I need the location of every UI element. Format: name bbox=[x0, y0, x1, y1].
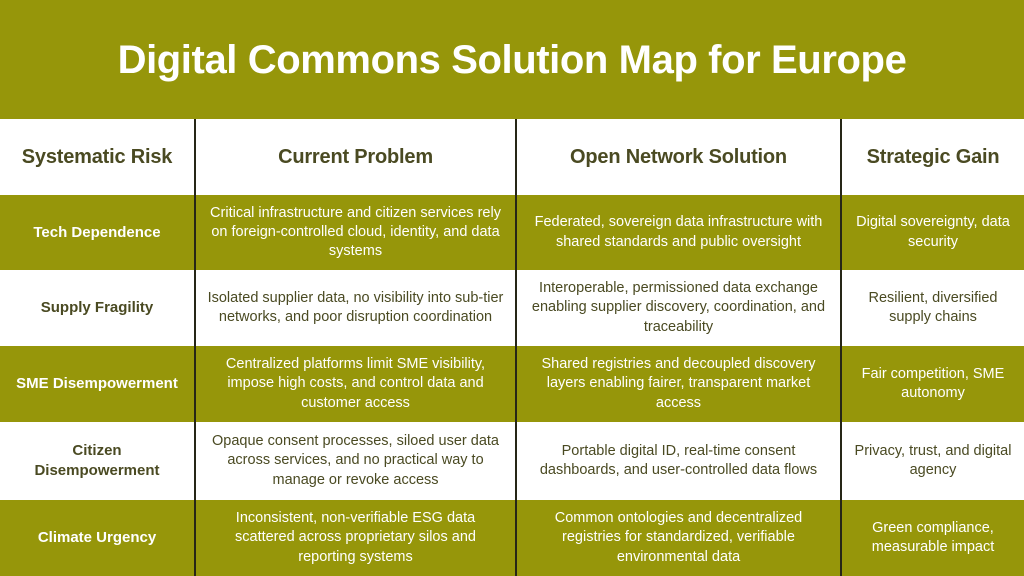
cell-problem: Centralized platforms limit SME visibili… bbox=[195, 346, 516, 422]
cell-risk: Climate Urgency bbox=[0, 500, 195, 576]
table-header: Systematic Risk Current Problem Open Net… bbox=[0, 119, 1024, 195]
cell-problem: Critical infrastructure and citizen serv… bbox=[195, 195, 516, 270]
cell-gain: Fair competition, SME autonomy bbox=[841, 346, 1024, 422]
column-header-systematic-risk: Systematic Risk bbox=[0, 119, 195, 195]
cell-problem: Opaque consent processes, siloed user da… bbox=[195, 422, 516, 500]
column-header-strategic-gain: Strategic Gain bbox=[841, 119, 1024, 195]
table-row: Citizen Disempowerment Opaque consent pr… bbox=[0, 422, 1024, 500]
cell-gain: Digital sovereignty, data security bbox=[841, 195, 1024, 270]
cell-gain: Green compliance, measurable impact bbox=[841, 500, 1024, 576]
solution-map-table: Systematic Risk Current Problem Open Net… bbox=[0, 119, 1024, 576]
cell-solution: Shared registries and decoupled discover… bbox=[516, 346, 841, 422]
cell-solution: Interoperable, permissioned data exchang… bbox=[516, 270, 841, 346]
cell-risk: Citizen Disempowerment bbox=[0, 422, 195, 500]
cell-problem: Inconsistent, non-verifiable ESG data sc… bbox=[195, 500, 516, 576]
cell-solution: Common ontologies and decentralized regi… bbox=[516, 500, 841, 576]
cell-problem: Isolated supplier data, no visibility in… bbox=[195, 270, 516, 346]
page-title: Digital Commons Solution Map for Europe bbox=[118, 38, 907, 82]
table-body: Tech Dependence Critical infrastructure … bbox=[0, 195, 1024, 576]
cell-gain: Resilient, diversified supply chains bbox=[841, 270, 1024, 346]
cell-solution: Federated, sovereign data infrastructure… bbox=[516, 195, 841, 270]
cell-risk: SME Disempowerment bbox=[0, 346, 195, 422]
cell-solution: Portable digital ID, real-time consent d… bbox=[516, 422, 841, 500]
column-header-current-problem: Current Problem bbox=[195, 119, 516, 195]
table-row: Climate Urgency Inconsistent, non-verifi… bbox=[0, 500, 1024, 576]
table-row: Supply Fragility Isolated supplier data,… bbox=[0, 270, 1024, 346]
slide-root: Digital Commons Solution Map for Europe … bbox=[0, 0, 1024, 576]
title-band: Digital Commons Solution Map for Europe bbox=[0, 0, 1024, 119]
cell-risk: Supply Fragility bbox=[0, 270, 195, 346]
cell-risk: Tech Dependence bbox=[0, 195, 195, 270]
cell-gain: Privacy, trust, and digital agency bbox=[841, 422, 1024, 500]
column-header-open-network-solution: Open Network Solution bbox=[516, 119, 841, 195]
table-header-row: Systematic Risk Current Problem Open Net… bbox=[0, 119, 1024, 195]
table-row: Tech Dependence Critical infrastructure … bbox=[0, 195, 1024, 270]
table-row: SME Disempowerment Centralized platforms… bbox=[0, 346, 1024, 422]
